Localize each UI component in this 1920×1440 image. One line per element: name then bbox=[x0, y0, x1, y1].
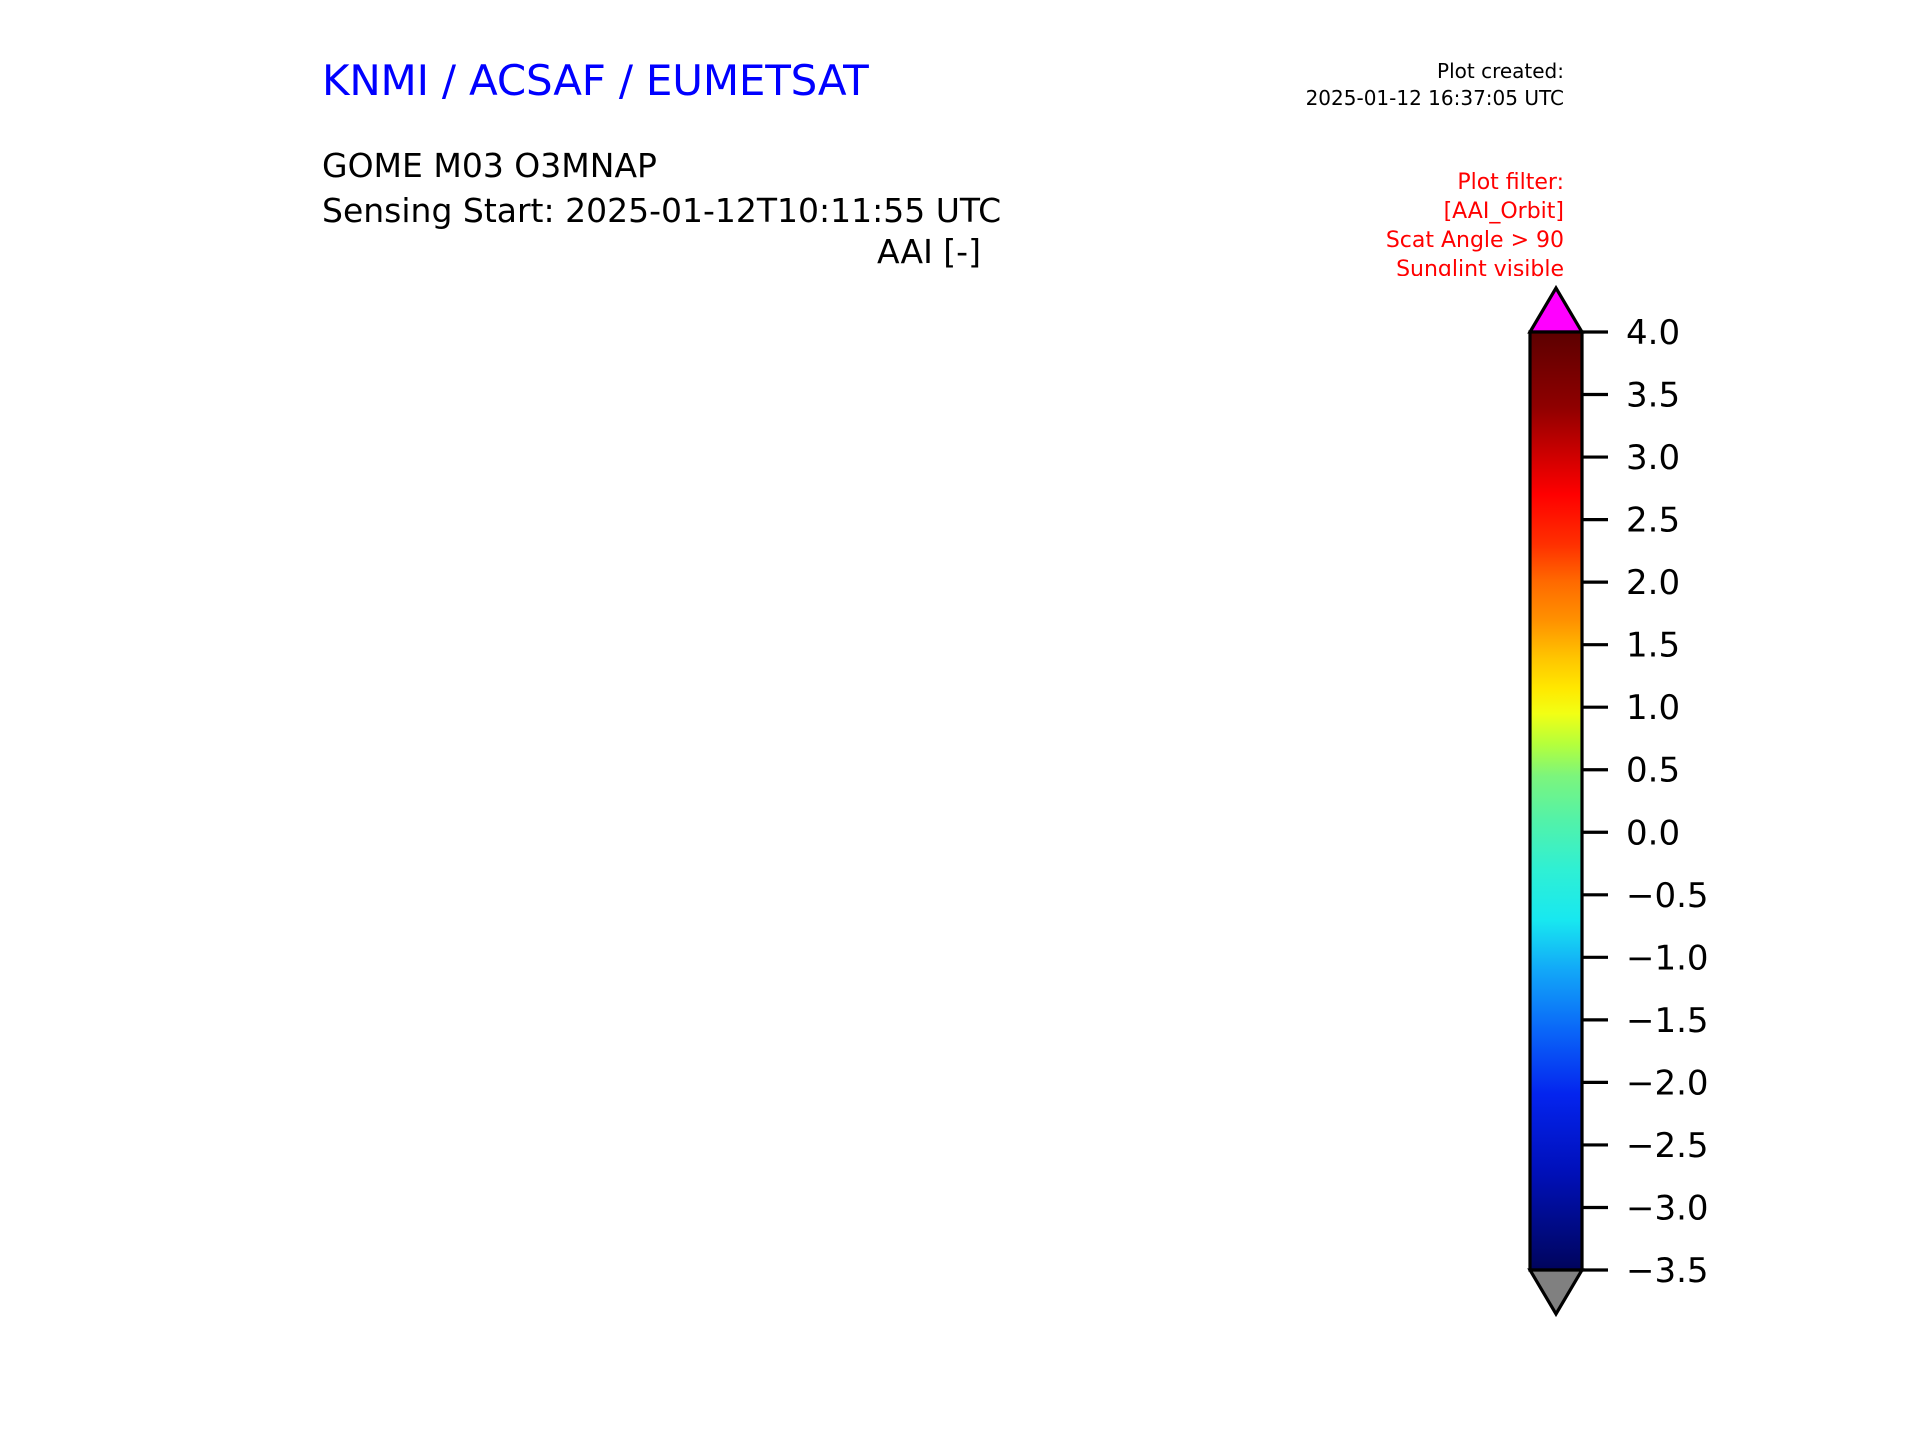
product-title-block: GOME M03 O3MNAP Sensing Start: 2025-01-1… bbox=[322, 143, 1001, 233]
plot-filter-name: [AAI_Orbit] bbox=[1386, 197, 1564, 226]
plot-created-block: Plot created: 2025-01-12 16:37:05 UTC bbox=[1306, 58, 1564, 112]
quantity-title-text: AAI [-] bbox=[877, 232, 981, 271]
plot-created-label: Plot created: bbox=[1306, 58, 1564, 85]
polar-stereographic-map bbox=[300, 276, 1520, 1336]
map-panel bbox=[300, 276, 1520, 1336]
quantity-title: AAI [-] bbox=[0, 232, 1920, 271]
plot-created-timestamp: 2025-01-12 16:37:05 UTC bbox=[1306, 85, 1564, 112]
plot-page: KNMI / ACSAF / EUMETSAT Plot created: 20… bbox=[0, 0, 1920, 1440]
organisation-title: KNMI / ACSAF / EUMETSAT bbox=[322, 56, 869, 105]
product-name: GOME M03 O3MNAP bbox=[322, 143, 1001, 188]
plot-filter-label: Plot filter: bbox=[1386, 168, 1564, 197]
plot-filter-condition: Scat Angle > 90 bbox=[1386, 226, 1564, 255]
sensing-start: Sensing Start: 2025-01-12T10:11:55 UTC bbox=[322, 188, 1001, 233]
map-background bbox=[300, 276, 1520, 1336]
plot-filter-block: Plot filter: [AAI_Orbit] Scat Angle > 90… bbox=[1386, 168, 1564, 284]
